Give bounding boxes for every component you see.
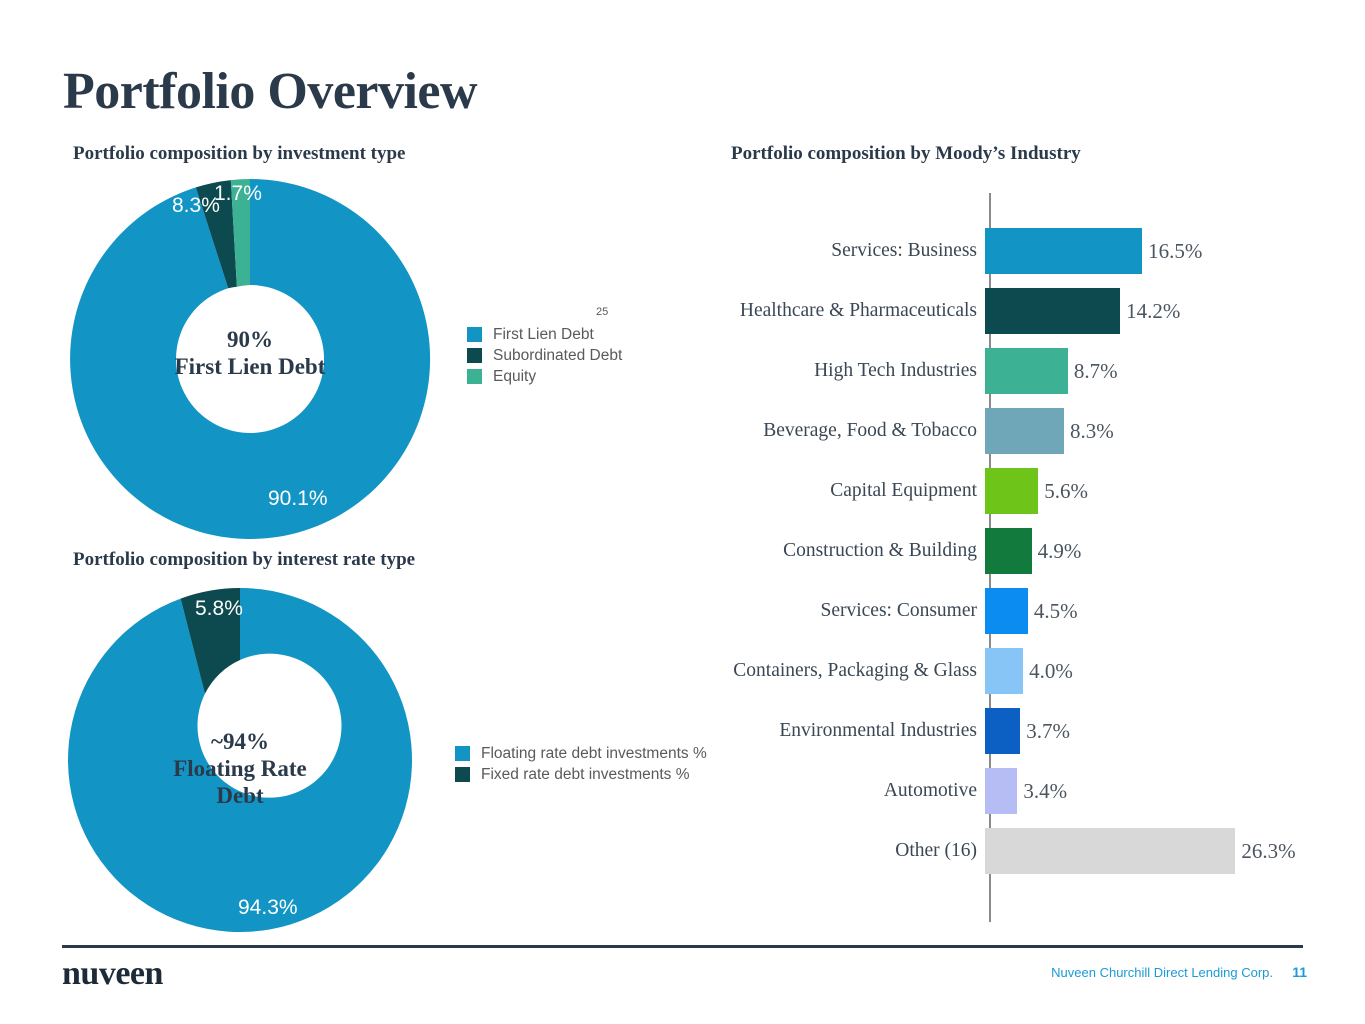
legend-investment-type: First Lien Debt Subordinated Debt Equity (467, 324, 622, 387)
bar-category-label: Containers, Packaging & Glass (700, 660, 985, 682)
section-heading-interest-rate: Portfolio composition by interest rate t… (73, 549, 415, 571)
bar-fill[interactable] (985, 468, 1038, 514)
bar-fill[interactable] (985, 528, 1032, 574)
bar-value-label: 14.2% (1126, 299, 1180, 324)
bar-row: Containers, Packaging & Glass4.0% (700, 648, 1320, 694)
bar-row: Beverage, Food & Tobacco8.3% (700, 408, 1320, 454)
bar-value-label: 3.7% (1026, 719, 1070, 744)
legend-item-fixed-rate-debt[interactable]: Fixed rate debt investments % (455, 764, 707, 785)
donut-slice-floating-rate-debt (68, 588, 412, 932)
bar-value-label: 5.6% (1044, 479, 1088, 504)
legend-label-equity: Equity (493, 368, 536, 386)
bar-fill[interactable] (985, 648, 1023, 694)
legend-footnote-marker: 25 (596, 306, 608, 318)
bar-chart-moodys-industry: Services: Business16.5%Healthcare & Phar… (700, 186, 1320, 926)
bar-value-label: 16.5% (1148, 239, 1202, 264)
donut-slice-first-lien-debt (70, 179, 430, 539)
donut-chart-investment-type: 90% First Lien Debt (62, 171, 438, 547)
legend-swatch-icon-first-lien-debt (467, 327, 482, 342)
section-heading-moodys-industry: Portfolio composition by Moody’s Industr… (731, 143, 1081, 165)
footer-divider (62, 945, 1303, 948)
bar-fill[interactable] (985, 348, 1068, 394)
footer-page-number: 11 (1292, 964, 1307, 980)
legend-swatch-icon-floating-rate-debt (455, 746, 470, 761)
footer-entity-name: Nuveen Churchill Direct Lending Corp. (1051, 965, 1273, 980)
bar-value-label: 4.9% (1038, 539, 1082, 564)
bar-category-label: Other (16) (700, 840, 985, 862)
bar-value-label: 8.7% (1074, 359, 1118, 384)
bar-category-label: Automotive (700, 780, 985, 802)
legend-swatch-icon-subordinated-debt (467, 348, 482, 363)
bar-value-label: 4.0% (1029, 659, 1073, 684)
bar-fill[interactable] (985, 288, 1120, 334)
bar-category-label: Services: Consumer (700, 600, 985, 622)
legend-swatch-icon-equity (467, 369, 482, 384)
page-title: Portfolio Overview (63, 66, 477, 118)
legend-label-fixed-rate-debt: Fixed rate debt investments % (481, 766, 690, 784)
nuveen-logo: nuveen (62, 955, 163, 993)
bar-category-label: Environmental Industries (700, 720, 985, 742)
donut-interest-rate-svg (64, 584, 416, 936)
bar-row: Services: Consumer4.5% (700, 588, 1320, 634)
legend-item-floating-rate-debt[interactable]: Floating rate debt investments % (455, 743, 707, 764)
legend-label-first-lien-debt: First Lien Debt (493, 326, 594, 344)
bar-category-label: Construction & Building (700, 540, 985, 562)
bar-fill[interactable] (985, 588, 1028, 634)
bar-row: Capital Equipment5.6% (700, 468, 1320, 514)
legend-swatch-icon-fixed-rate-debt (455, 767, 470, 782)
bar-fill[interactable] (985, 228, 1142, 274)
legend-interest-rate: Floating rate debt investments % Fixed r… (455, 743, 707, 785)
bar-value-label: 4.5% (1034, 599, 1078, 624)
bar-category-label: Beverage, Food & Tobacco (700, 420, 985, 442)
section-heading-investment-type: Portfolio composition by investment type (73, 143, 405, 165)
bar-category-label: Healthcare & Pharmaceuticals (700, 300, 985, 322)
legend-item-equity[interactable]: Equity (467, 366, 622, 387)
bar-row: Services: Business16.5% (700, 228, 1320, 274)
bar-row: High Tech Industries8.7% (700, 348, 1320, 394)
bar-category-label: High Tech Industries (700, 360, 985, 382)
bar-row: Construction & Building4.9% (700, 528, 1320, 574)
bar-fill[interactable] (985, 708, 1020, 754)
bar-fill[interactable] (985, 768, 1017, 814)
bar-category-label: Services: Business (700, 240, 985, 262)
bar-row: Healthcare & Pharmaceuticals14.2% (700, 288, 1320, 334)
legend-item-first-lien-debt[interactable]: First Lien Debt (467, 324, 622, 345)
bar-category-label: Capital Equipment (700, 480, 985, 502)
legend-label-subordinated-debt: Subordinated Debt (493, 347, 622, 365)
donut-investment-type-svg (62, 171, 438, 547)
bar-fill[interactable] (985, 408, 1064, 454)
bar-value-label: 8.3% (1070, 419, 1114, 444)
bar-row: Environmental Industries3.7% (700, 708, 1320, 754)
bar-row: Other (16)26.3% (700, 828, 1320, 874)
slide: Portfolio Overview Portfolio composition… (0, 0, 1365, 1024)
bar-value-label: 3.4% (1023, 779, 1067, 804)
bar-value-label: 26.3% (1241, 839, 1295, 864)
bar-fill[interactable] (985, 828, 1235, 874)
donut-chart-interest-rate: ~94% Floating Rate Debt (64, 584, 416, 936)
bar-row: Automotive3.4% (700, 768, 1320, 814)
legend-label-floating-rate-debt: Floating rate debt investments % (481, 745, 707, 763)
legend-item-subordinated-debt[interactable]: Subordinated Debt (467, 345, 622, 366)
